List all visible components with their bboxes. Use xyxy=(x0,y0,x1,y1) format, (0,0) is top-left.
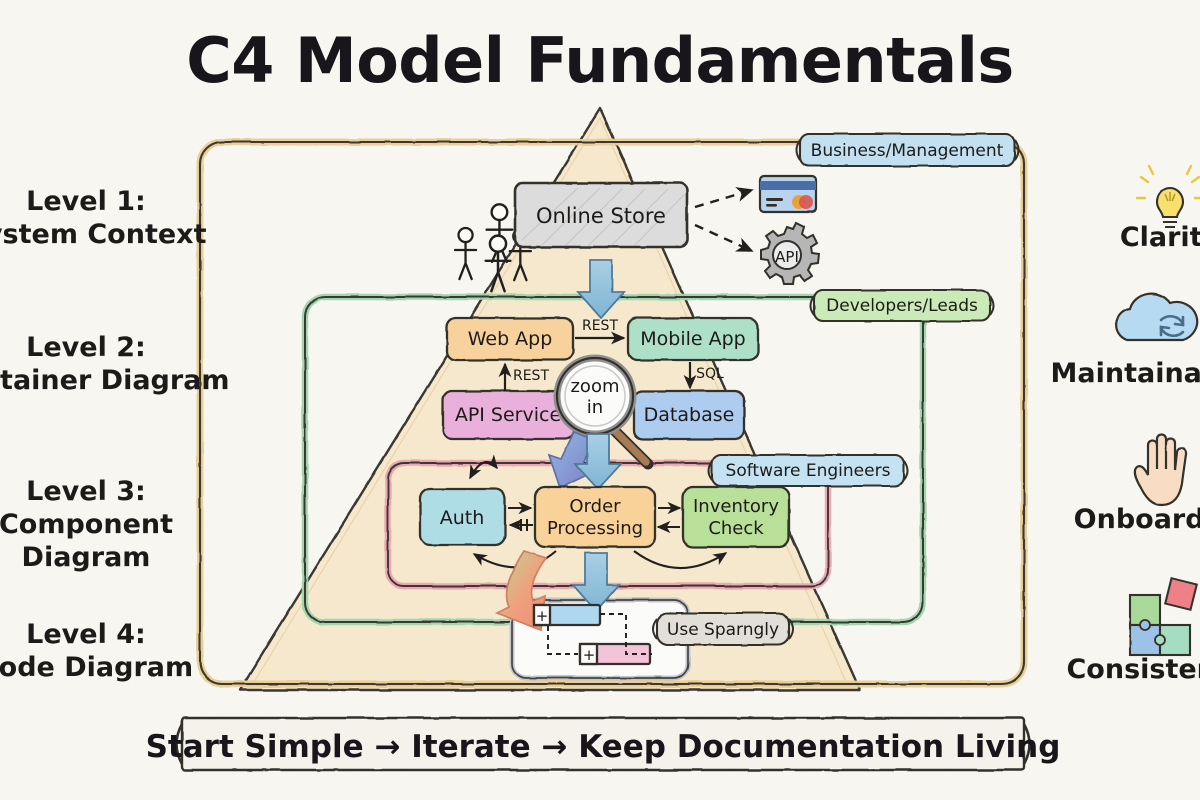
component-inventory-check[interactable]: Inventory Check xyxy=(683,487,789,547)
principle-label: Maintainability xyxy=(1051,358,1200,389)
container-web-app[interactable]: Web App xyxy=(447,318,573,360)
component-label-line2: Processing xyxy=(547,518,643,539)
gear-icon-label: API xyxy=(775,248,799,266)
container-label: Mobile App xyxy=(640,328,745,350)
magnifier-label-line1: zoom xyxy=(570,376,619,397)
component-label-line1: Order xyxy=(569,496,621,517)
level-label-line1: Level 3: xyxy=(26,476,146,507)
component-label: Auth xyxy=(440,507,485,529)
container-mobile-app[interactable]: Mobile App xyxy=(628,318,758,360)
principle-label: Onboarding xyxy=(1074,504,1200,535)
component-order-processing[interactable]: Order Processing xyxy=(535,487,655,547)
system-box-label: Online Store xyxy=(536,204,666,228)
footer-text: Start Simple → Iterate → Keep Documentat… xyxy=(146,729,1061,765)
level-label-line1: Level 2: xyxy=(26,332,146,363)
edge-label-rest-1: REST xyxy=(582,318,618,334)
page-title: C4 Model Fundamentals xyxy=(186,24,1013,97)
component-auth[interactable]: Auth xyxy=(420,489,505,545)
edge-label-sql: SQL xyxy=(696,366,724,382)
code-class-a[interactable]: + xyxy=(534,605,600,625)
level-label-line2: Container Diagram xyxy=(0,365,230,396)
diagram-canvas: C4 Model Fundamentals xyxy=(0,0,1200,800)
edge-label-rest-2: REST xyxy=(513,368,549,384)
magnifier-label-line2: in xyxy=(587,397,603,418)
audience-tag-engineers[interactable]: Software Engineers xyxy=(709,455,908,486)
level-label-line1: Level 4: xyxy=(26,619,146,650)
c4-model-illustration: C4 Model Fundamentals xyxy=(0,0,1200,800)
system-box-online-store[interactable]: Online Store xyxy=(515,183,687,247)
principle-label: Consistency xyxy=(1066,654,1200,685)
audience-tag-label: Use Sparngly xyxy=(667,620,779,640)
audience-tag-developers[interactable]: Developers/Leads xyxy=(811,290,994,321)
component-label-line1: Inventory xyxy=(693,496,779,517)
container-database[interactable]: Database xyxy=(634,391,744,439)
audience-tag-business[interactable]: Business/Management xyxy=(797,134,1019,166)
container-label: Web App xyxy=(468,328,553,350)
component-label-line2: Check xyxy=(708,518,764,539)
level-label-line1: Level 1: xyxy=(26,186,146,217)
container-label: API Service xyxy=(455,404,561,426)
audience-tag-label: Developers/Leads xyxy=(826,296,978,316)
level-label-line2: System Context xyxy=(0,219,207,250)
level-label-line2: Component xyxy=(0,509,173,540)
level-label-line2: Code Diagram xyxy=(0,652,193,683)
code-class-b[interactable]: + xyxy=(580,644,650,664)
level-label-line3: Diagram xyxy=(22,542,151,573)
footer-banner: Start Simple → Iterate → Keep Documentat… xyxy=(146,718,1061,770)
code-class-member: + xyxy=(536,607,549,625)
container-label: Database xyxy=(644,404,735,426)
audience-tag-label: Business/Management xyxy=(811,141,1004,161)
credit-card-icon xyxy=(760,176,816,212)
principle-label: Clarity xyxy=(1120,222,1200,253)
audience-tag-label: Software Engineers xyxy=(726,461,891,481)
audience-tag-sparingly[interactable]: Use Sparngly xyxy=(653,613,793,645)
code-class-member: + xyxy=(583,646,596,664)
